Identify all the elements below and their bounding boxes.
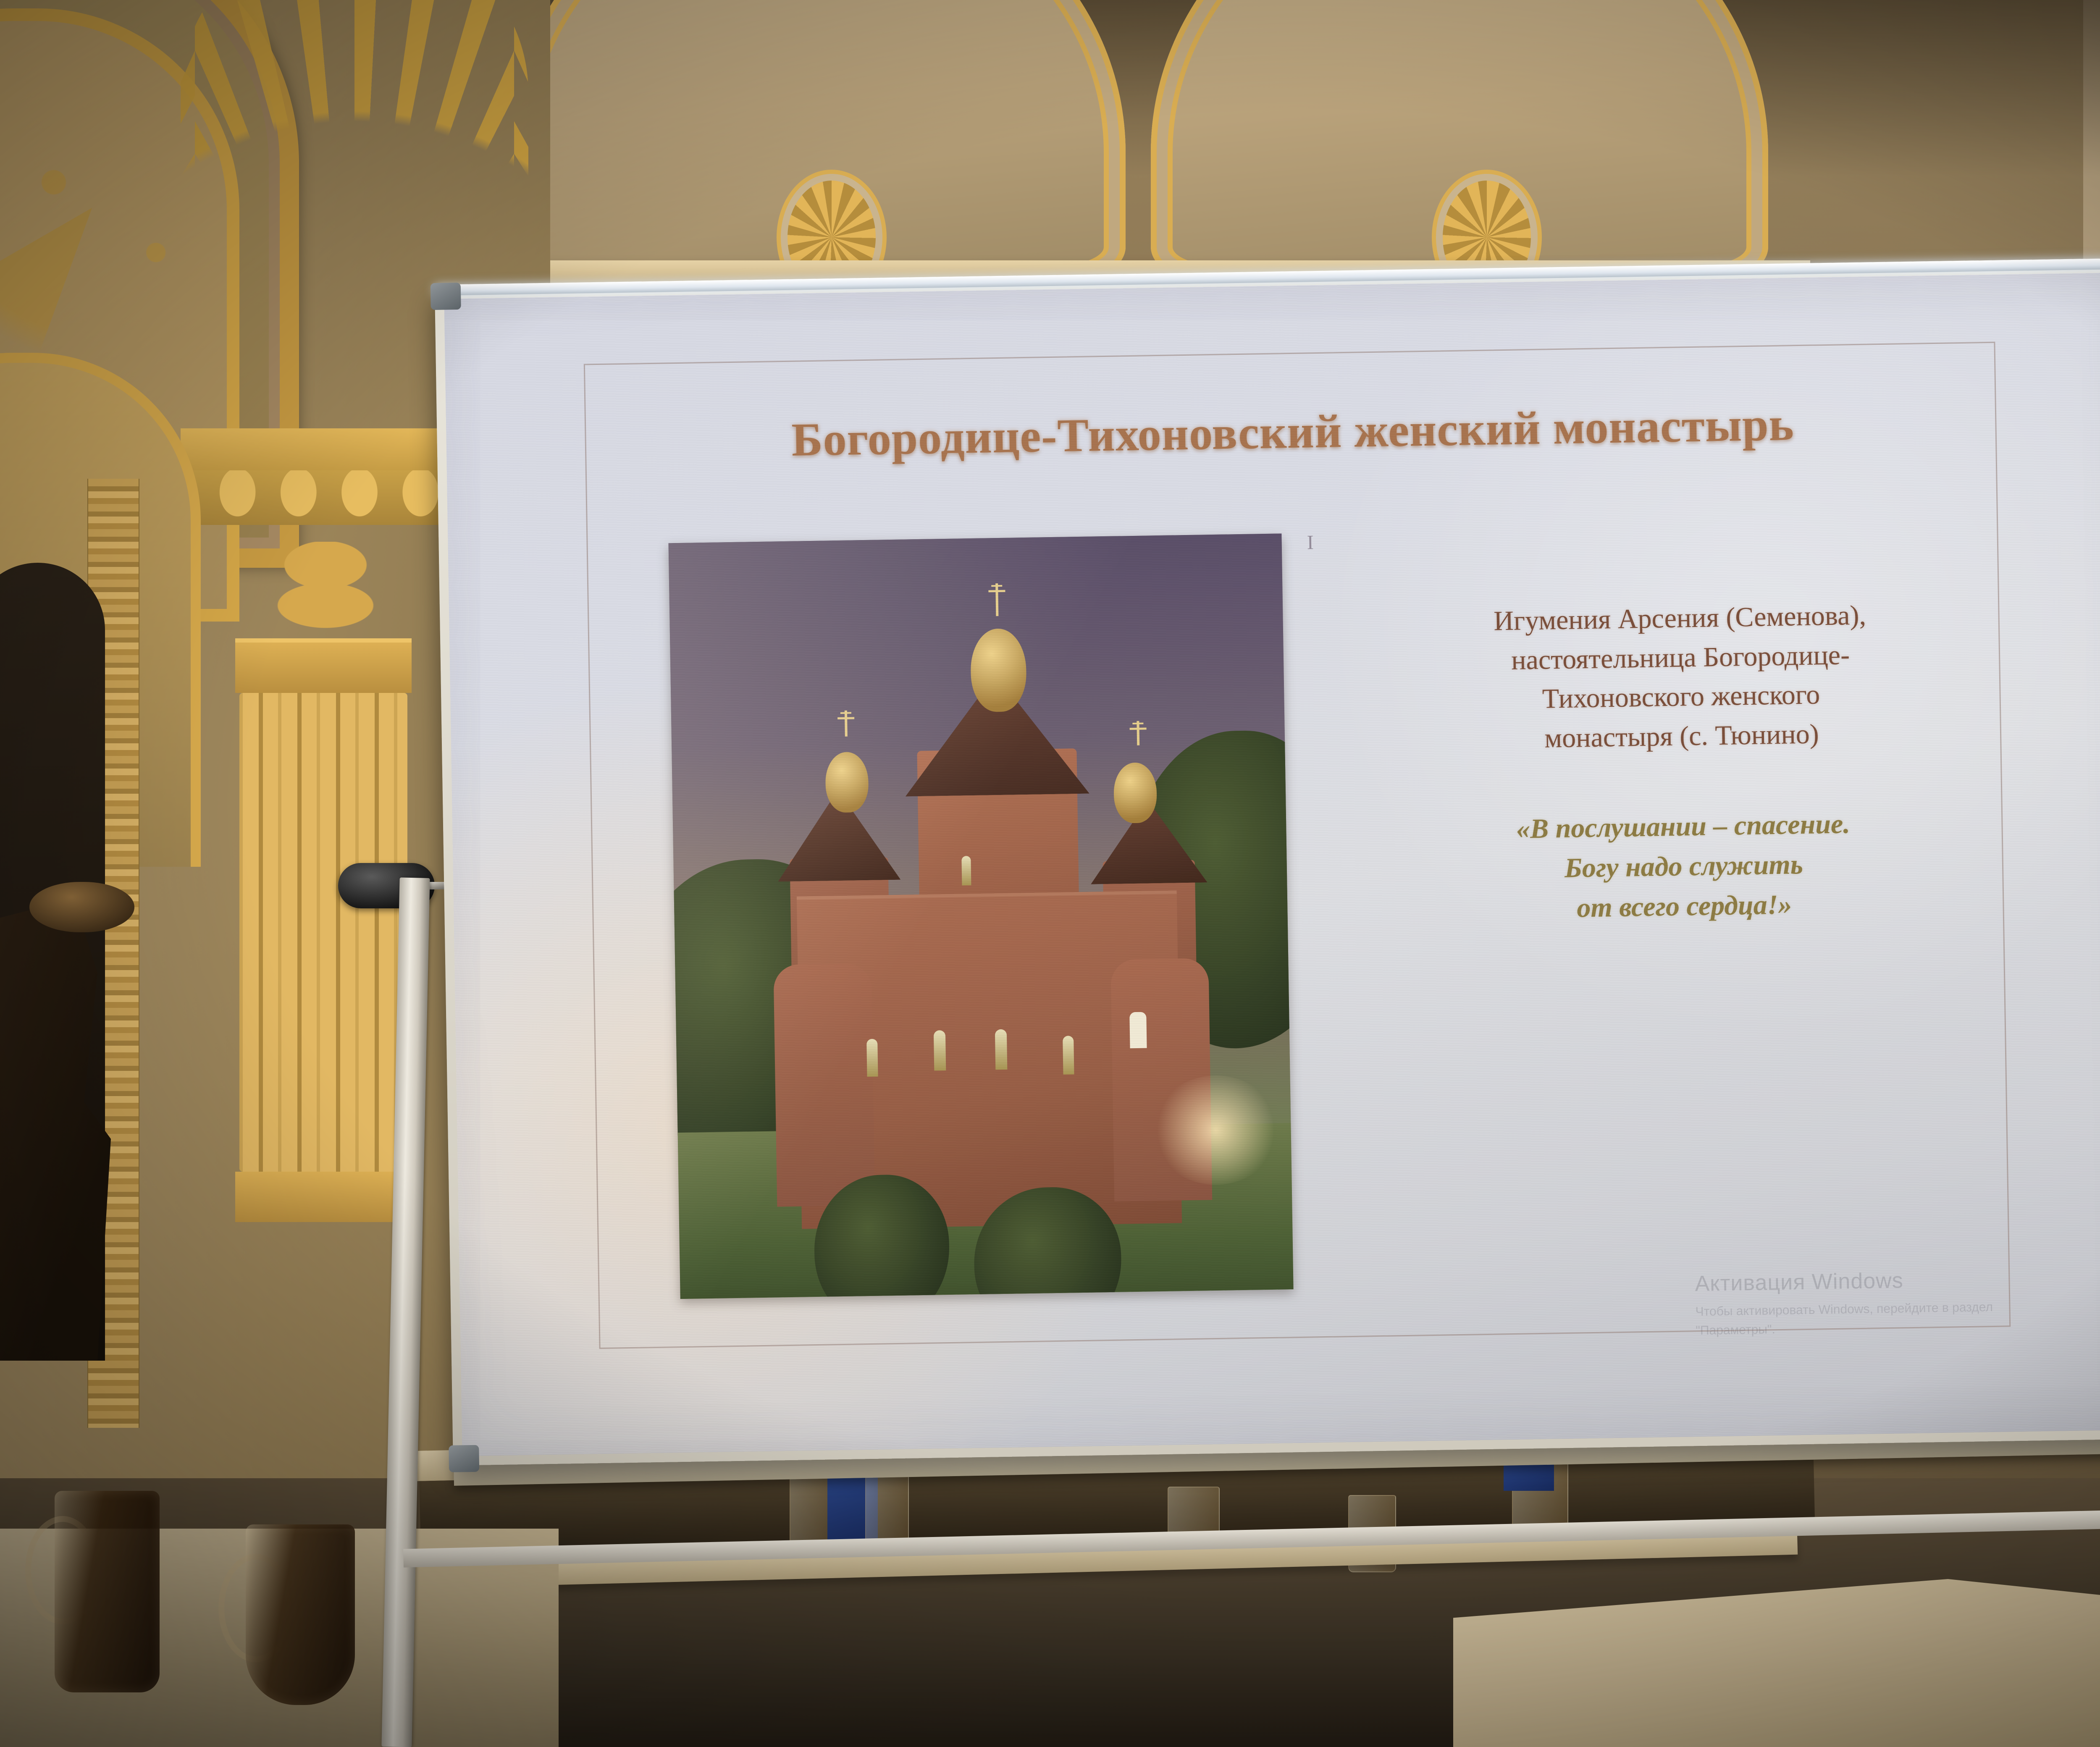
watermark-subtitle: Чтобы активировать Windows, перейдите в …	[1695, 1296, 2074, 1340]
projected-slide[interactable]: Богородице-Тихоновский женский монастырь	[444, 273, 2100, 1456]
photo-projection-haze	[669, 533, 1294, 1299]
quote-line-3: от всего сердца!»	[1577, 889, 1792, 923]
whiteboard-corner-cap	[430, 283, 461, 310]
watermark-title: Активация Windows	[1695, 1265, 2073, 1296]
abbess-name-bold: Игумения Арсения	[1494, 602, 1719, 636]
glass-pitcher-dark	[246, 1524, 355, 1705]
watermark-line-1: Чтобы активировать Windows, перейдите в …	[1695, 1300, 1993, 1319]
quote-line-2: Богу надо служить	[1564, 849, 1803, 884]
text-caret-icon: I	[1307, 531, 1314, 554]
slide-text-column: Игумения Арсения (Семенова), настоятельн…	[1369, 594, 1995, 931]
column-lower-band	[235, 1172, 412, 1222]
windows-activation-watermark: Активация Windows Чтобы активировать Win…	[1695, 1265, 2074, 1340]
quote-line-1: «В послушании – спасение.	[1516, 808, 1851, 844]
watermark-line-2: "Параметры".	[1696, 1322, 1775, 1338]
body-line-3: Тихоновского женского	[1542, 679, 1820, 714]
whiteboard-corner-cap	[449, 1445, 479, 1472]
glass-pitcher-amber	[55, 1491, 160, 1692]
column-capital-egg-and-dart	[193, 470, 470, 525]
body-line-2: настоятельница Богородице-	[1511, 640, 1850, 676]
photo-scene: Богородице-Тихоновский женский монастырь	[0, 0, 2100, 1747]
slide-quote: «В послушании – спасение. Богу надо служ…	[1372, 802, 1995, 931]
slide-photo-church	[669, 533, 1294, 1299]
column-leaf-ornament	[273, 542, 378, 638]
lectern-scroll-top	[29, 882, 134, 932]
column-upper-band	[235, 638, 412, 693]
fluted-gold-column	[239, 693, 407, 1172]
slide-body-paragraph: Игумения Арсения (Семенова), настоятельн…	[1369, 594, 1993, 761]
body-line-4: монастыря (с. Тюнино)	[1544, 719, 1819, 754]
abbess-surname: (Семенова),	[1719, 600, 1866, 633]
whiteboard-projection-surface[interactable]: Богородице-Тихоновский женский монастырь	[435, 263, 2100, 1465]
drinking-glass	[865, 1470, 909, 1547]
